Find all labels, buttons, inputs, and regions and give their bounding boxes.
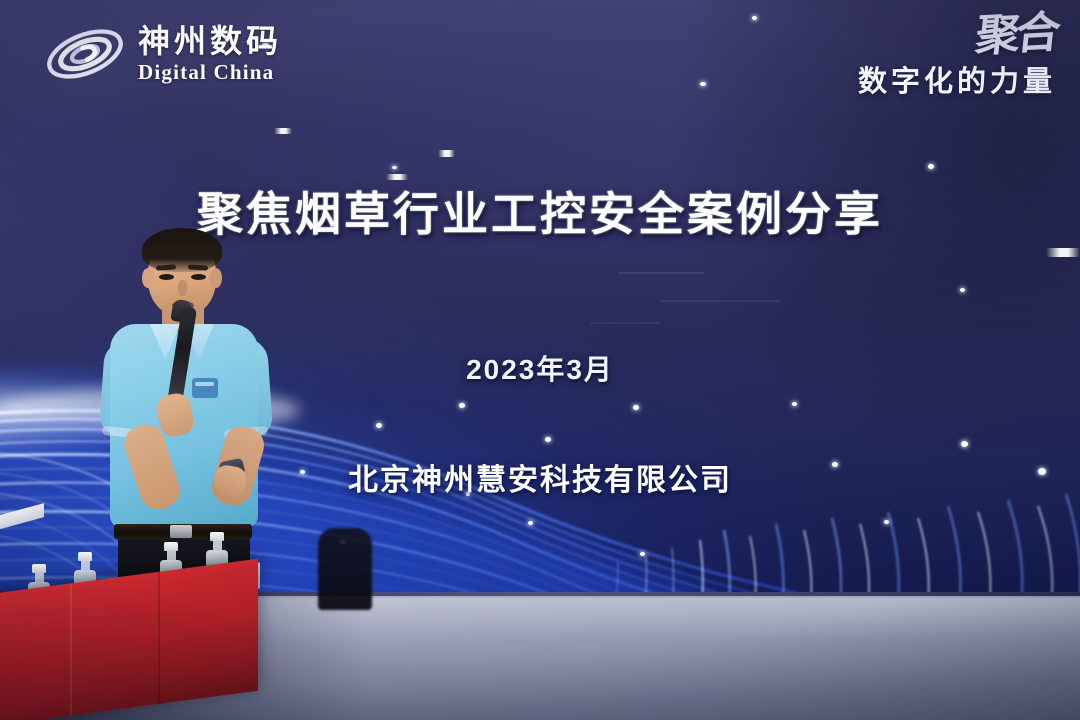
bottle-neck [213, 541, 222, 550]
event-logo: 聚合 数字化的力量 [858, 14, 1056, 100]
bottle-neck [81, 561, 90, 570]
light-particle [633, 405, 639, 410]
speaker-left-ear [142, 268, 154, 288]
light-particle [438, 150, 455, 157]
brand-name-en: Digital China [138, 62, 282, 83]
light-particle [884, 520, 889, 524]
bottle-cap [210, 532, 224, 541]
light-particle [376, 423, 382, 428]
light-particle [1046, 248, 1080, 257]
light-particle [459, 403, 465, 408]
speaker-chest-logo-icon [192, 378, 218, 398]
speaker-belt-buckle [170, 525, 192, 538]
event-mark-calligraphy: 聚合 [974, 12, 1059, 58]
speaker-left-eye [159, 274, 174, 280]
speaker-hair [142, 228, 222, 272]
light-particle [274, 128, 292, 134]
light-particle [792, 402, 797, 406]
brand-text-block: 神州数码 Digital China [138, 25, 282, 83]
speaker-right-ear [210, 268, 222, 288]
light-particle [961, 441, 968, 447]
bottle-cap [164, 542, 178, 551]
light-particle [545, 437, 551, 442]
light-particle [928, 164, 934, 169]
brand-name-cn: 神州数码 [138, 25, 282, 57]
light-particle [640, 552, 645, 556]
light-particle [392, 166, 397, 169]
bottle-cap [32, 564, 46, 573]
light-particle [528, 521, 533, 525]
speaker-nose [178, 280, 187, 296]
bottle-neck [35, 573, 44, 582]
table-cloth-fold [158, 572, 160, 704]
background-dark-figure [318, 528, 372, 610]
bottle-neck [167, 551, 176, 560]
table-cloth-fold [70, 583, 72, 715]
brand-logo-digital-china: 神州数码 Digital China [42, 18, 282, 90]
light-particle [700, 82, 706, 86]
event-tagline: 数字化的力量 [858, 58, 1056, 100]
speaker-right-eye [191, 274, 206, 280]
bottle-cap [78, 552, 92, 561]
conference-stage-photo: 神州数码 Digital China 聚合 数字化的力量 聚焦烟草行业工控安全案… [0, 0, 1080, 720]
light-particle [752, 16, 757, 20]
galaxy-swirl-icon [42, 18, 128, 90]
light-particle [960, 288, 965, 292]
